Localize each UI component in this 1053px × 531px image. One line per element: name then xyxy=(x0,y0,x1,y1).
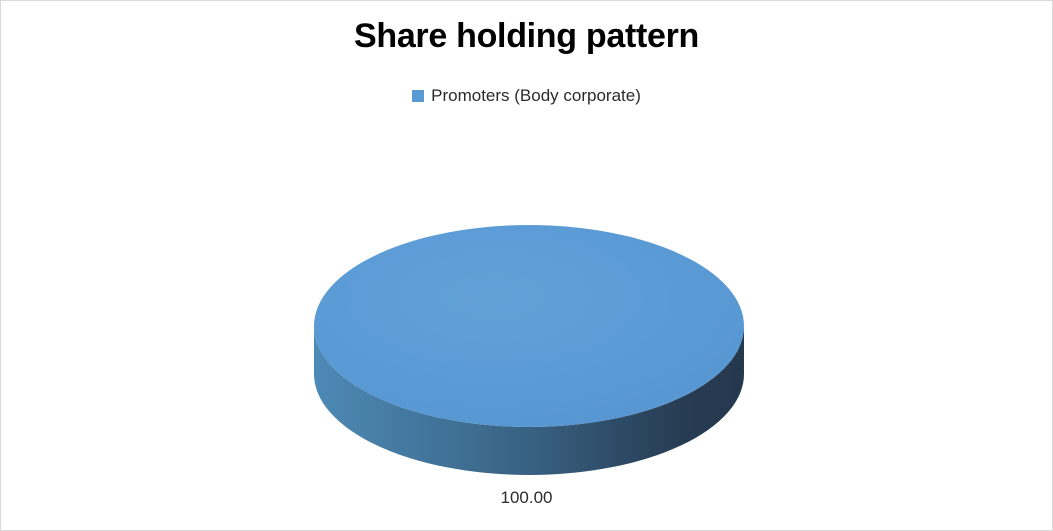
pie-chart-canvas[interactable]: Share holding pattern Promoters (Body co… xyxy=(0,0,1053,531)
pie-graphic[interactable] xyxy=(314,223,744,474)
legend-item-label: Promoters (Body corporate) xyxy=(431,86,641,106)
legend-item-promoters-body-corporate[interactable]: Promoters (Body corporate) xyxy=(412,86,641,106)
pie-data-label: 100.00 xyxy=(1,488,1052,508)
legend-color-swatch-icon xyxy=(412,90,424,102)
chart-legend[interactable]: Promoters (Body corporate) xyxy=(1,86,1052,106)
pie-3d-svg[interactable] xyxy=(314,223,744,474)
pie-slice-promoters-body-corporate[interactable] xyxy=(314,225,744,427)
chart-title: Share holding pattern xyxy=(1,17,1052,56)
